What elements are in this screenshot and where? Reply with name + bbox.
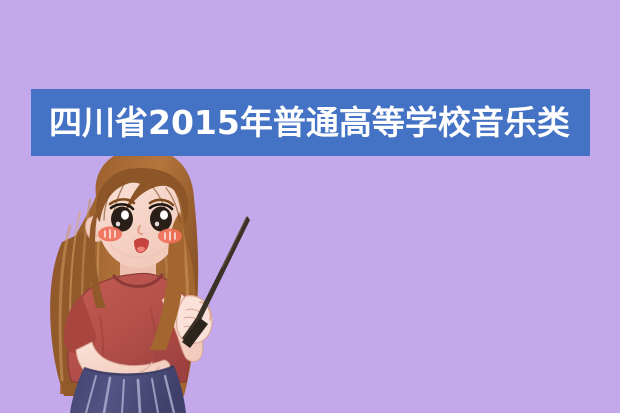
title-banner: 四川省2015年普通高等学校音乐类 bbox=[31, 89, 590, 156]
page-title: 四川省2015年普通高等学校音乐类 bbox=[49, 106, 570, 139]
illustration-girl-with-pointer bbox=[0, 156, 620, 413]
blush-left-icon bbox=[98, 227, 122, 242]
blush-right-icon bbox=[158, 229, 182, 244]
banner-canvas: 四川省2015年普通高等学校音乐类 bbox=[0, 0, 620, 413]
